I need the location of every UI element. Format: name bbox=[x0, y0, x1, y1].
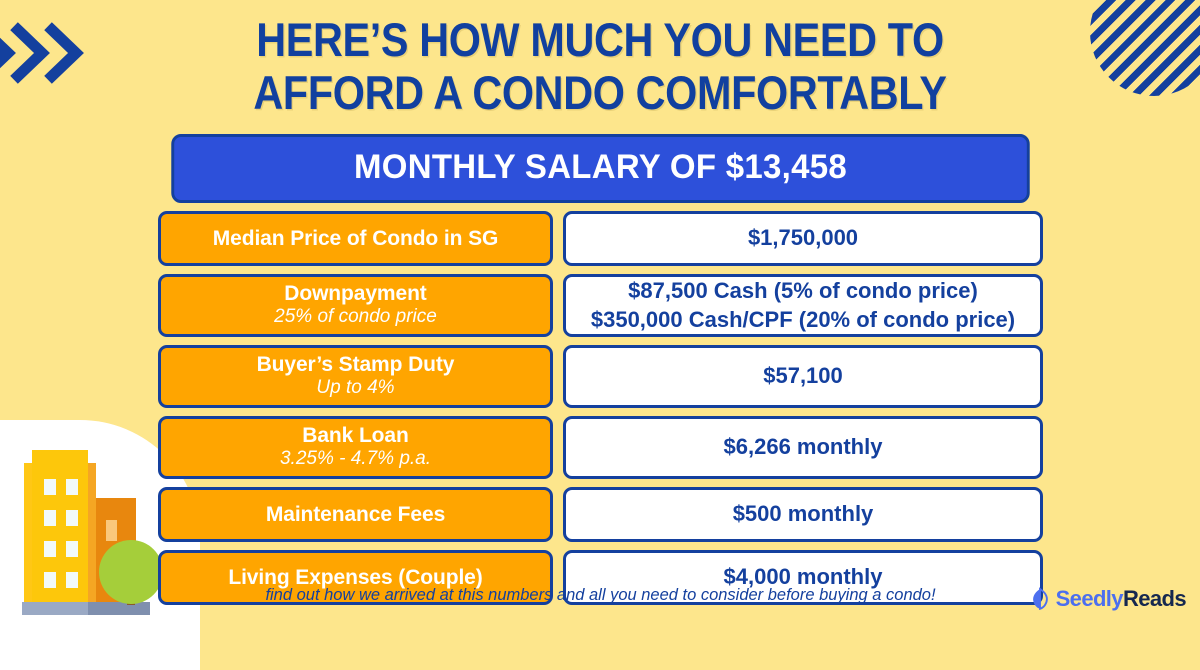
row-label: Buyer’s Stamp Duty bbox=[257, 353, 455, 377]
row-value-cell: $57,100 bbox=[563, 345, 1043, 408]
seedly-leaf-icon bbox=[1028, 587, 1052, 611]
row-value-cell: $500 monthly bbox=[563, 487, 1043, 542]
page-title-line1: HERE’S HOW MUCH YOU NEED TO bbox=[72, 14, 1128, 67]
table-row: Bank Loan3.25% - 4.7% p.a.$6,266 monthly bbox=[158, 416, 1043, 479]
row-label: Maintenance Fees bbox=[266, 503, 445, 527]
seedly-reads-logo[interactable]: SeedlyReads bbox=[1028, 586, 1186, 612]
row-value-line: $57,100 bbox=[763, 362, 843, 390]
row-value-cell: $1,750,000 bbox=[563, 211, 1043, 266]
row-value-line: $87,500 Cash (5% of condo price) bbox=[628, 277, 978, 305]
table-rows: Median Price of Condo in SG$1,750,000Dow… bbox=[158, 211, 1043, 605]
row-label-cell: Maintenance Fees bbox=[158, 487, 553, 542]
row-value-cell: $6,266 monthly bbox=[563, 416, 1043, 479]
row-sublabel: 25% of condo price bbox=[274, 306, 437, 329]
row-label-cell: Buyer’s Stamp DutyUp to 4% bbox=[158, 345, 553, 408]
row-label: Bank Loan bbox=[302, 424, 408, 448]
table-row: Maintenance Fees$500 monthly bbox=[158, 487, 1043, 542]
affordability-table: MONTHLY SALARY OF $13,458 Median Price o… bbox=[158, 134, 1043, 605]
row-label: Median Price of Condo in SG bbox=[213, 227, 499, 251]
row-value-cell: $87,500 Cash (5% of condo price)$350,000… bbox=[563, 274, 1043, 337]
row-label: Downpayment bbox=[284, 282, 426, 306]
logo-word-seedly: Seedly bbox=[1056, 586, 1123, 611]
row-value-line: $6,266 monthly bbox=[724, 433, 883, 461]
row-label-cell: Downpayment25% of condo price bbox=[158, 274, 553, 337]
page-title: HERE’S HOW MUCH YOU NEED TO AFFORD A CON… bbox=[72, 14, 1128, 119]
row-value-line: $350,000 Cash/CPF (20% of condo price) bbox=[591, 306, 1015, 334]
row-sublabel: Up to 4% bbox=[316, 377, 394, 400]
monthly-salary-header: MONTHLY SALARY OF $13,458 bbox=[171, 134, 1029, 203]
row-value-line: $500 monthly bbox=[733, 500, 874, 528]
row-sublabel: 3.25% - 4.7% p.a. bbox=[280, 448, 431, 471]
row-label-cell: Median Price of Condo in SG bbox=[158, 211, 553, 266]
logo-word-reads: Reads bbox=[1123, 586, 1186, 611]
footnote-text: find out how we arrived at this numbers … bbox=[171, 585, 1029, 605]
logo-wordmark: SeedlyReads bbox=[1056, 586, 1186, 612]
table-row: Median Price of Condo in SG$1,750,000 bbox=[158, 211, 1043, 266]
row-label-cell: Bank Loan3.25% - 4.7% p.a. bbox=[158, 416, 553, 479]
page-title-line2: AFFORD A CONDO COMFORTABLY bbox=[72, 67, 1128, 120]
table-row: Downpayment25% of condo price$87,500 Cas… bbox=[158, 274, 1043, 337]
table-row: Buyer’s Stamp DutyUp to 4%$57,100 bbox=[158, 345, 1043, 408]
row-value-line: $1,750,000 bbox=[748, 224, 858, 252]
